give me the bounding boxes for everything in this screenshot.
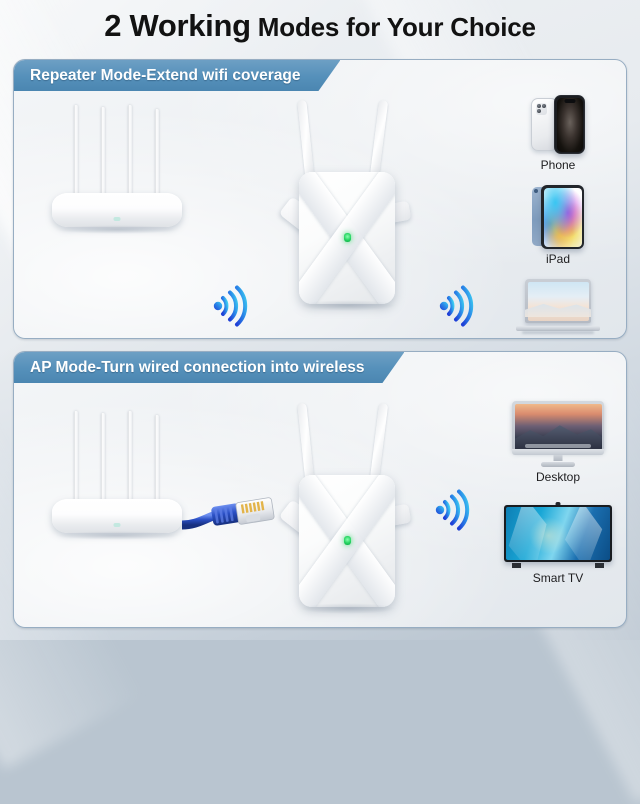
client-device-label: Desktop [536, 470, 580, 484]
client-device-phone: Phone [527, 95, 589, 172]
banner-ap-mode: AP Mode-Turn wired connection into wirel… [14, 352, 404, 383]
title-rest: Modes for Your Choice [251, 12, 536, 42]
television-icon [504, 502, 612, 568]
banner-repeater-mode: Repeater Mode-Extend wifi coverage [14, 60, 340, 91]
panel-repeater-stage: Phone iPad Laptop [14, 91, 626, 338]
wifi-signal-icon-left [210, 283, 256, 329]
client-device-label: iPad [546, 252, 570, 266]
smartphone-icon [527, 95, 589, 155]
banner-label: Repeater Mode-Extend wifi coverage [30, 67, 300, 85]
panel-repeater-mode: Repeater Mode-Extend wifi coverage [13, 59, 627, 339]
client-device-label: Smart TV [533, 571, 583, 585]
wifi-signal-icon-right [436, 283, 482, 329]
page-title: 2 Working Modes for Your Choice [0, 8, 640, 44]
client-device-ipad: iPad [532, 185, 584, 266]
panel-ap-stage: Desktop Smart TV [14, 383, 626, 627]
wifi-range-extender-icon [286, 403, 406, 593]
banner-label: AP Mode-Turn wired connection into wirel… [30, 359, 364, 377]
client-device-laptop: Laptop [516, 279, 600, 339]
client-device-label: Laptop [540, 337, 577, 339]
client-device-desktop: Desktop [512, 401, 604, 484]
panel-ap-mode: AP Mode-Turn wired connection into wirel… [13, 351, 627, 628]
desktop-computer-icon [512, 401, 604, 467]
wifi-signal-icon-right [432, 487, 478, 533]
wifi-router-icon [52, 411, 182, 533]
wifi-range-extender-icon [286, 100, 406, 290]
client-device-list-repeater: Phone iPad Laptop [502, 95, 614, 339]
client-device-label: Phone [541, 158, 576, 172]
wifi-router-icon [52, 105, 182, 227]
client-device-list-ap: Desktop Smart TV [498, 401, 618, 585]
client-device-smart-tv: Smart TV [504, 502, 612, 585]
title-emphasis: 2 Working [104, 8, 251, 43]
tablet-icon [532, 185, 584, 249]
laptop-icon [516, 279, 600, 334]
